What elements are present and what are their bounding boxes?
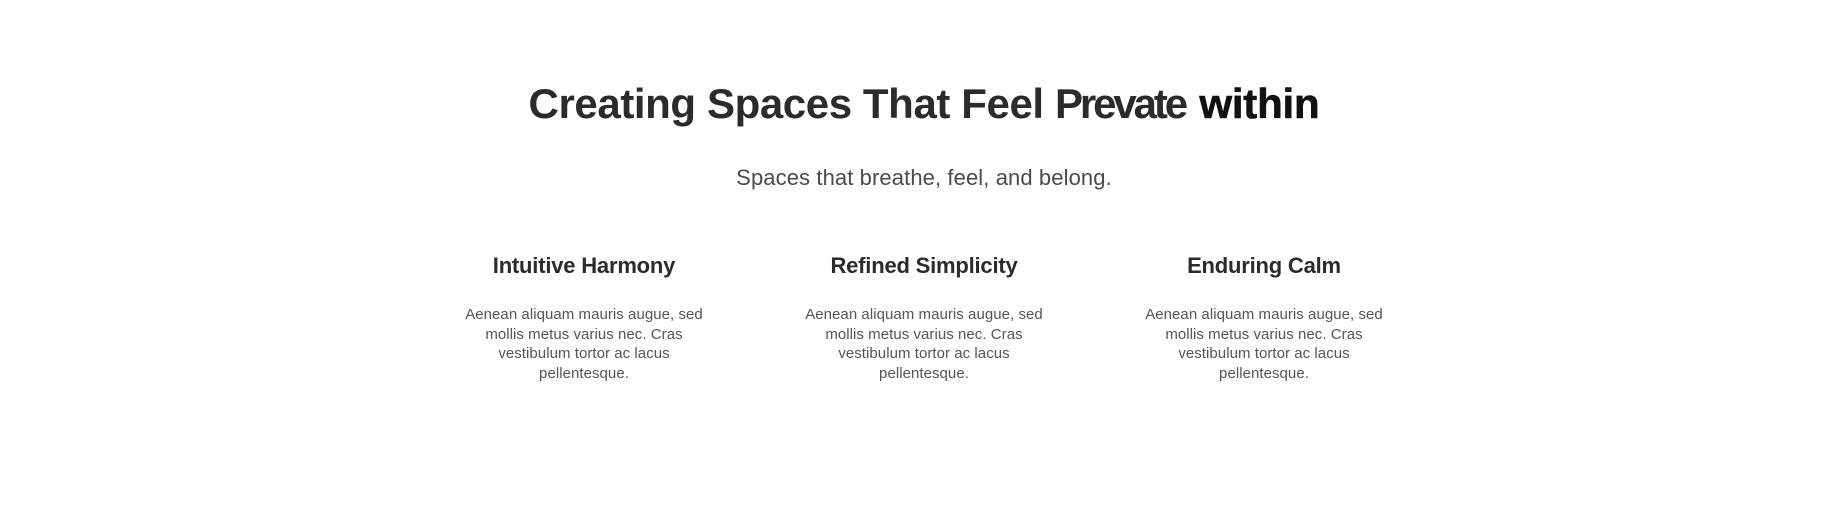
page-title-space bbox=[1188, 80, 1199, 127]
page-title-emphasis-word: within bbox=[1199, 80, 1319, 127]
feature-column-intuitive-harmony: Intuitive Harmony Aenean aliquam mauris … bbox=[434, 252, 734, 383]
page-title: Creating Spaces That Feel Prevate within bbox=[0, 0, 1848, 130]
feature-body: Aenean aliquam mauris augue, sed mollis … bbox=[453, 280, 715, 383]
feature-column-enduring-calm: Enduring Calm Aenean aliquam mauris augu… bbox=[1114, 252, 1414, 383]
feature-columns: Intuitive Harmony Aenean aliquam mauris … bbox=[434, 252, 1414, 383]
feature-body: Aenean aliquam mauris augue, sed mollis … bbox=[793, 280, 1055, 383]
feature-title: Intuitive Harmony bbox=[434, 252, 734, 280]
page-title-lead: Creating Spaces That Feel bbox=[529, 80, 1055, 127]
hero-page: Creating Spaces That Feel Prevate within… bbox=[0, 0, 1848, 523]
page-subtitle: Spaces that breathe, feel, and belong. bbox=[0, 130, 1848, 193]
feature-title: Enduring Calm bbox=[1114, 252, 1414, 280]
feature-column-refined-simplicity: Refined Simplicity Aenean aliquam mauris… bbox=[774, 252, 1074, 383]
hero-section: Creating Spaces That Feel Prevate within… bbox=[0, 0, 1848, 193]
page-title-tight-word: Prevate bbox=[1055, 80, 1185, 127]
feature-body: Aenean aliquam mauris augue, sed mollis … bbox=[1133, 280, 1395, 383]
feature-title: Refined Simplicity bbox=[774, 252, 1074, 280]
